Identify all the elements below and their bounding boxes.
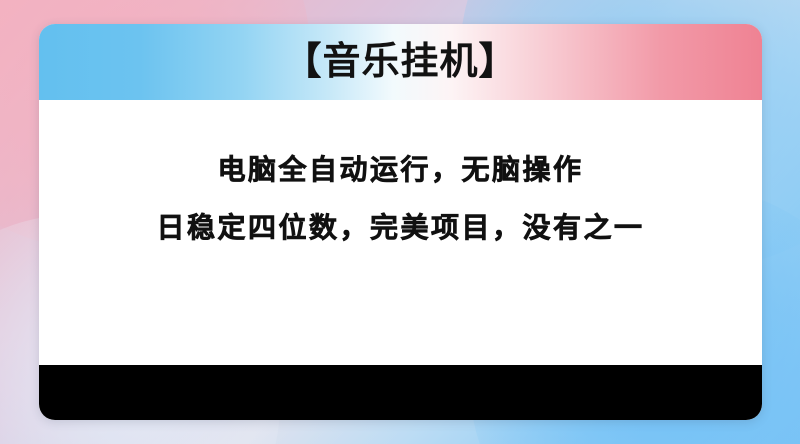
card-header-band: 【音乐挂机】	[39, 24, 762, 100]
card-body: 电脑全自动运行，无脑操作 日稳定四位数，完美项目，没有之一	[39, 100, 762, 420]
headline-line-2: 日稳定四位数，完美项目，没有之一	[156, 214, 644, 242]
headline-line-1: 电脑全自动运行，无脑操作	[217, 156, 583, 184]
card-footer-bar	[39, 365, 762, 420]
poster-card: 【音乐挂机】 电脑全自动运行，无脑操作 日稳定四位数，完美项目，没有之一	[39, 24, 762, 420]
poster-canvas: 【音乐挂机】 电脑全自动运行，无脑操作 日稳定四位数，完美项目，没有之一	[0, 0, 800, 444]
page-title: 【音乐挂机】	[283, 42, 517, 80]
